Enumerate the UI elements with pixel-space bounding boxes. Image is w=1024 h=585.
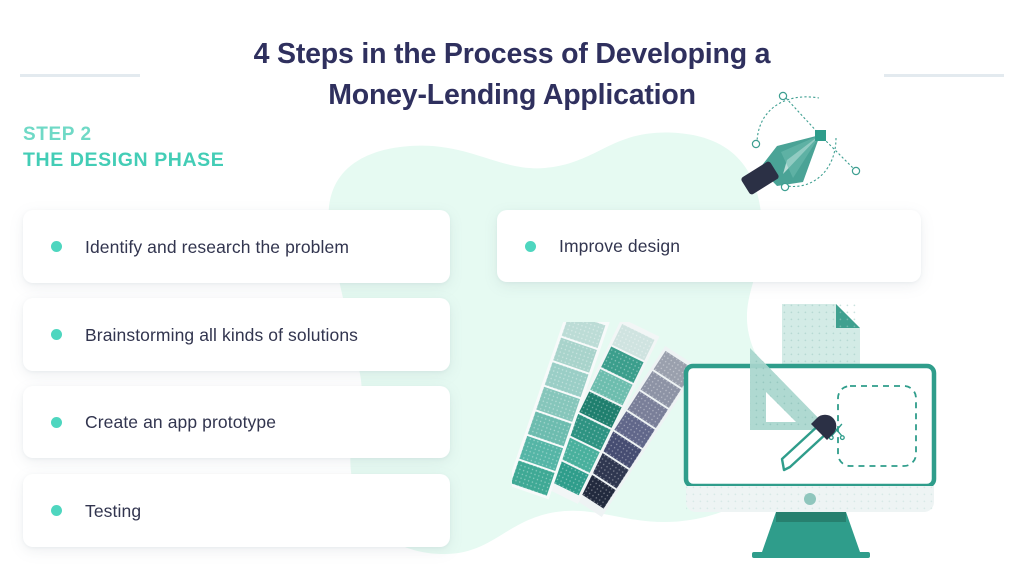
list-item-card[interactable]: Brainstorming all kinds of solutions: [23, 298, 450, 371]
list-item-card[interactable]: Identify and research the problem: [23, 210, 450, 283]
desktop-monitor-illustration: [678, 290, 950, 585]
header-rule-right: [884, 74, 1004, 77]
step-heading: STEP 2 THE DESIGN PHASE: [23, 122, 224, 174]
list-item-card[interactable]: Testing: [23, 474, 450, 547]
list-item-card[interactable]: Create an app prototype: [23, 386, 450, 458]
bullet-dot-icon: [51, 417, 62, 428]
monitor-body: [686, 486, 934, 512]
monitor-stand: [752, 512, 870, 558]
bullet-dot-icon: [525, 241, 536, 252]
camera-dot: [804, 493, 816, 505]
page-title-line-1: 4 Steps in the Process of Developing a: [162, 34, 862, 75]
color-swatch-fan-illustration: [512, 322, 702, 517]
list-item-label: Identify and research the problem: [85, 235, 349, 259]
bullet-dot-icon: [51, 329, 62, 340]
list-item-label: Improve design: [559, 234, 680, 258]
bullet-dot-icon: [51, 241, 62, 252]
list-item-card[interactable]: Improve design: [497, 210, 921, 282]
step-phase-label: THE DESIGN PHASE: [23, 147, 224, 174]
step-number-label: STEP 2: [23, 122, 224, 147]
list-item-label: Brainstorming all kinds of solutions: [85, 323, 358, 347]
bullet-dot-icon: [51, 505, 62, 516]
list-item-label: Testing: [85, 499, 141, 523]
pen-tool-nib-illustration: [735, 82, 865, 200]
infographic-slide: 4 Steps in the Process of Developing a M…: [0, 0, 1024, 585]
list-item-label: Create an app prototype: [85, 410, 276, 434]
monitor-base: [752, 552, 870, 558]
header-rule-left: [20, 74, 140, 77]
